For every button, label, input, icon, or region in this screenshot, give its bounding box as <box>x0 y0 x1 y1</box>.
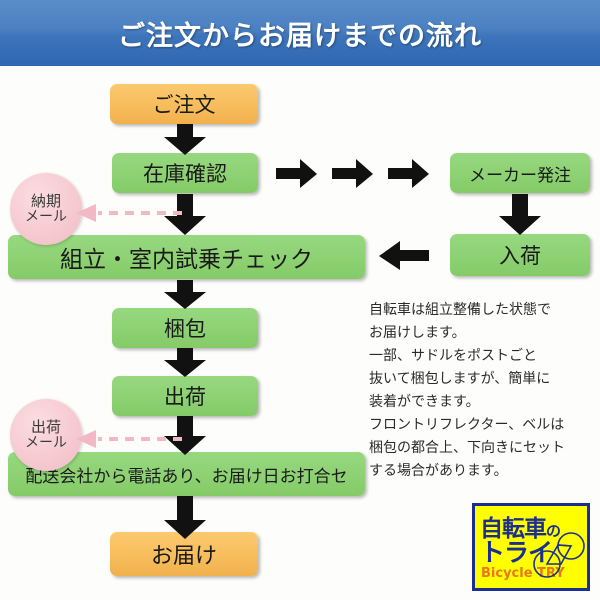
flow-box-shipping-label: 出荷 <box>164 381 206 411</box>
flow-box-packing-label: 梱包 <box>164 313 206 343</box>
flow-box-assembly-label: 組立・室内試乗チェック <box>60 240 313 274</box>
flow-box-shipping: 出荷 <box>112 376 258 416</box>
arrow-down-maker-to-arrival <box>498 194 542 236</box>
note-line-7: 梱包の都合上、下向きにセット <box>369 437 597 460</box>
arrow-left-arrival-to-assembly <box>378 240 430 272</box>
note-line-1: 自転車は組立整備した状態で <box>369 299 597 322</box>
page-title: ご注文からお届けまでの流れ <box>118 14 482 53</box>
bubble-lead-time-mail-line1: 納期 <box>31 193 61 210</box>
flow-box-carrier-call-label: 配送会社から電話あり、お届け日お打合セ <box>25 462 347 487</box>
bubble-shipping-mail-line2: メール <box>25 436 67 452</box>
arrow-right-1 <box>276 158 318 190</box>
note-line-6: フロントリフレクター、ベルは <box>369 414 597 437</box>
bubble-lead-time-mail-line2: メール <box>25 210 67 226</box>
flow-box-stock-check-label: 在庫確認 <box>143 158 227 188</box>
bubble-shipping-mail-line1: 出荷 <box>31 419 61 436</box>
arrow-down-packing-to-shipping <box>163 348 207 378</box>
arrow-dashed-lead-time-mail <box>70 202 185 224</box>
flow-box-order: ご注文 <box>110 84 258 124</box>
flow-box-assembly: 組立・室内試乗チェック <box>8 235 365 279</box>
note-line-3: 一部、サドルをポストごと <box>369 345 597 368</box>
flow-box-stock-check: 在庫確認 <box>112 153 258 193</box>
flow-box-maker-order-label: メーカー発注 <box>469 161 571 186</box>
arrow-down-order-to-stock <box>163 124 207 156</box>
flow-box-order-label: ご注文 <box>153 89 216 119</box>
flow-box-arrival: 入荷 <box>450 234 590 276</box>
brand-logo: 自転車の トライ Bicycle TRY <box>472 503 590 591</box>
header-banner: ご注文からお届けまでの流れ <box>0 0 600 66</box>
note-line-4: 抜いて梱包しますが、簡単に <box>369 368 597 391</box>
note-line-8: する場合があります。 <box>369 460 597 483</box>
arrow-down-carrier-to-delivery <box>163 496 207 540</box>
flow-box-arrival-label: 入荷 <box>499 240 541 270</box>
arrow-right-2 <box>332 158 374 190</box>
flow-box-delivery-label: お届け <box>151 538 217 570</box>
flow-box-packing: 梱包 <box>112 308 258 348</box>
note-line-5: 装着ができます。 <box>369 391 597 414</box>
arrow-down-assembly-to-packing <box>163 280 207 310</box>
note-line-2: お届けします。 <box>369 322 597 345</box>
bicycle-icon <box>533 532 585 584</box>
note-text: 自転車は組立整備した状態で お届けします。 一部、サドルをポストごと 抜いて梱包… <box>369 299 597 483</box>
arrow-right-3 <box>388 158 430 190</box>
flow-box-maker-order: メーカー発注 <box>450 153 590 193</box>
arrow-dashed-shipping-mail <box>70 428 185 450</box>
